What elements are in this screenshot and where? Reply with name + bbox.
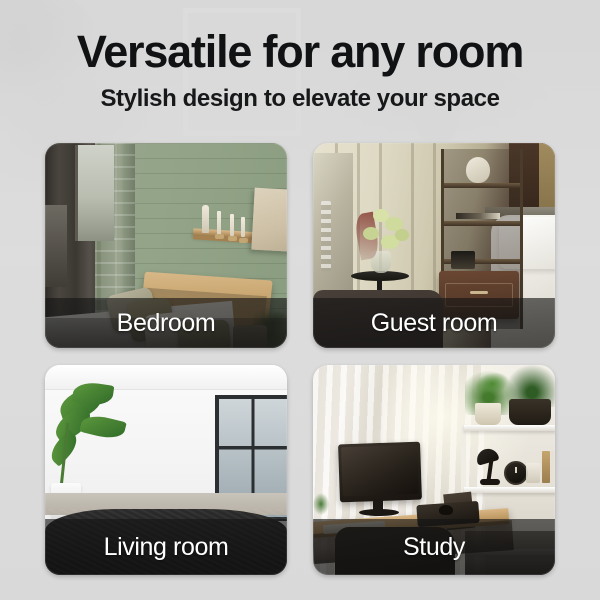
room-card-grid: Bedroom [45,143,555,575]
banner-header: Versatile for any room Stylish design to… [0,27,600,114]
room-card-bedroom[interactable]: Bedroom [45,143,287,348]
product-lifestyle-banner: Versatile for any room Stylish design to… [0,0,600,600]
room-card-label: Guest room [313,298,555,348]
room-card-study[interactable]: Study [313,365,555,575]
page-title: Versatile for any room [0,27,600,77]
room-card-label: Living room [45,519,287,575]
room-card-guest-room[interactable]: Guest room [313,143,555,348]
room-card-label: Bedroom [45,298,287,348]
room-card-label: Study [313,519,555,575]
page-subtitle: Stylish design to elevate your space [0,84,600,114]
room-card-living-room[interactable]: Living room [45,365,287,575]
